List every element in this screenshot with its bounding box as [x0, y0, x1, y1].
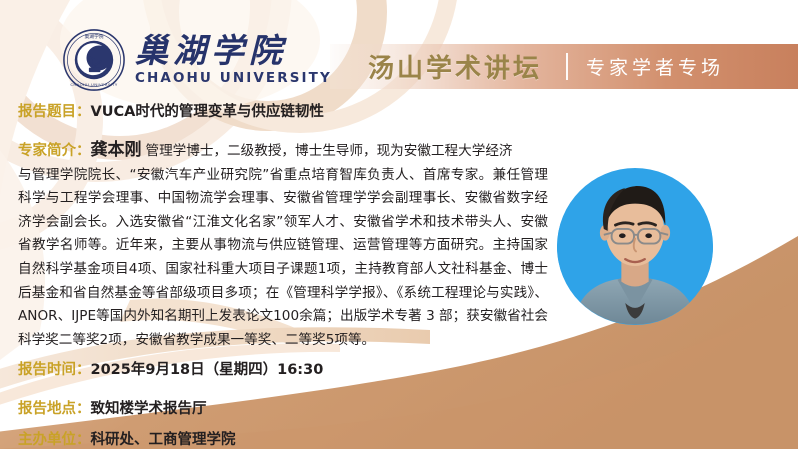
- svg-text:CHAOHU UNIVERSITY: CHAOHU UNIVERSITY: [70, 82, 118, 87]
- logo-english-name: CHAOHU UNIVERSITY: [135, 72, 332, 86]
- speaker-bio-head: 专家简介： 龚本刚 管理学博士，二级教授，博士生导师，现为安徽工程大学经济: [18, 135, 548, 164]
- forum-subtitle: 专家学者专场: [586, 53, 724, 80]
- speaker-bio-block: 专家简介： 龚本刚 管理学博士，二级教授，博士生导师，现为安徽工程大学经济 与管…: [18, 135, 548, 352]
- header-band: 汤山学术讲坛 专家学者专场: [330, 44, 798, 89]
- speaker-portrait: [557, 168, 713, 325]
- report-time-label: 报告时间：: [18, 358, 91, 379]
- speaker-bio-text: 与管理学院院长、“安徽汽车产业研究院”省重点培育智库负责人、首席专家。兼任管理科…: [18, 164, 548, 353]
- report-place-label: 报告地点：: [18, 397, 91, 418]
- forum-title: 汤山学术讲坛: [368, 48, 542, 85]
- logo-chinese-name: 巢湖学院: [135, 34, 332, 67]
- poster-root: 汤山学术讲坛 专家学者专场 巢湖学院 CHAOHU UNIVERSITY 巢湖学…: [0, 0, 798, 449]
- report-title-label: 报告题目：: [18, 100, 91, 121]
- report-time-value: 2025年9月18日（星期四）16:30: [91, 358, 324, 379]
- speaker-name: 龚本刚: [91, 135, 142, 160]
- report-time-row: 报告时间： 2025年9月18日（星期四）16:30: [18, 358, 323, 379]
- band-separator: [566, 53, 568, 80]
- organizer-value: 科研处、工商管理学院: [91, 428, 236, 449]
- organizer-row: 主办单位： 科研处、工商管理学院: [18, 428, 236, 449]
- speaker-portrait-image: [557, 168, 713, 325]
- report-place-value: 致知楼学术报告厅: [91, 397, 207, 418]
- organizer-label: 主办单位：: [18, 428, 91, 449]
- university-logo: 巢湖学院 CHAOHU UNIVERSITY 巢湖学院 CHAOHU UNIVE…: [62, 28, 332, 92]
- report-title-value: VUCA时代的管理变革与供应链韧性: [91, 100, 324, 121]
- report-title-row: 报告题目： VUCA时代的管理变革与供应链韧性: [18, 100, 324, 121]
- speaker-bio-first-line: 管理学博士，二级教授，博士生导师，现为安徽工程大学经济: [146, 140, 513, 164]
- speaker-bio-label: 专家简介：: [18, 139, 91, 160]
- university-seal-icon: 巢湖学院 CHAOHU UNIVERSITY: [62, 28, 126, 92]
- report-place-row: 报告地点： 致知楼学术报告厅: [18, 397, 207, 418]
